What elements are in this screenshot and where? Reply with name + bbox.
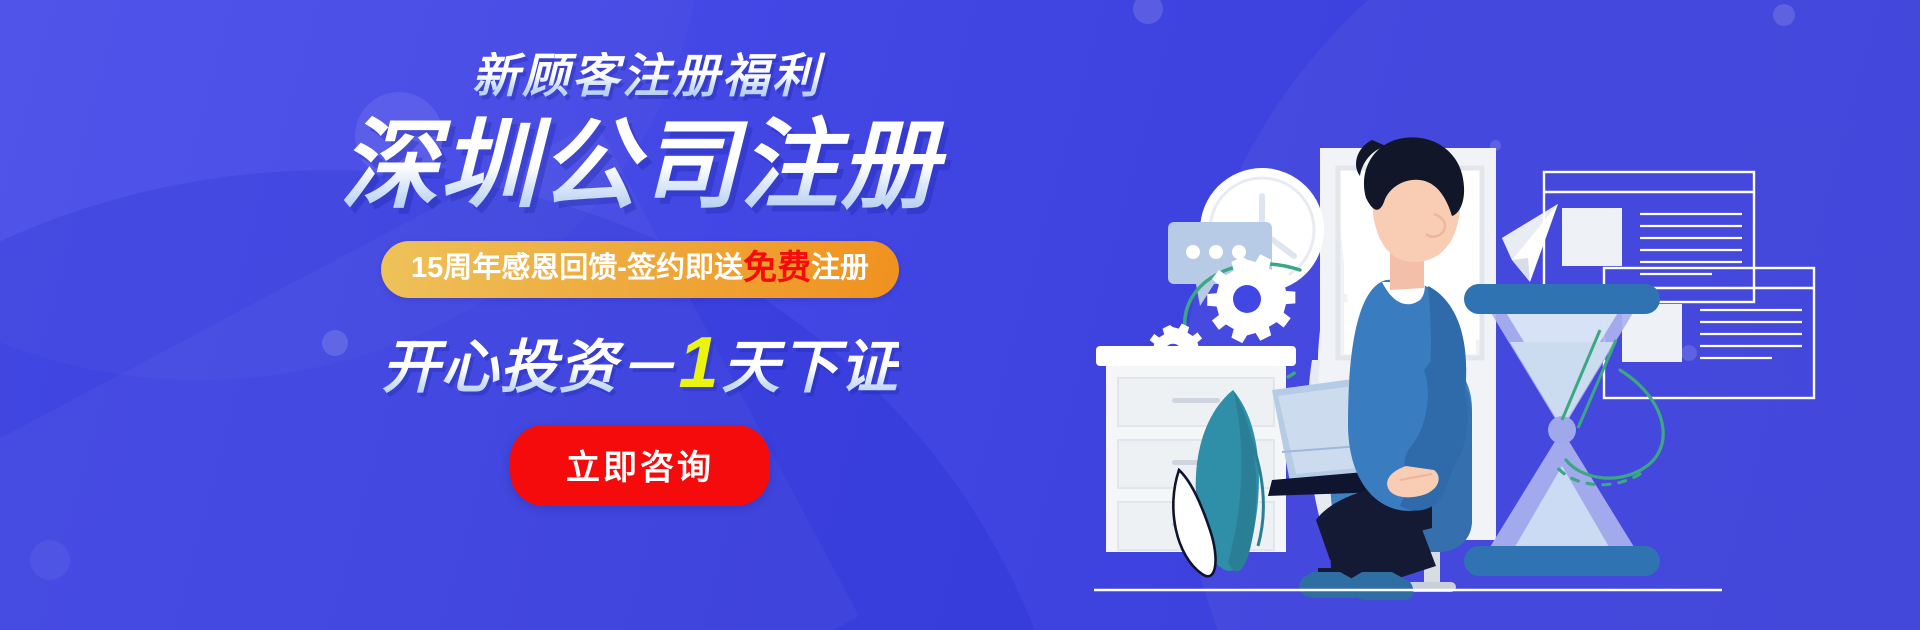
tagline-after: 天下证: [722, 335, 899, 400]
tagline-number: 1: [676, 323, 721, 403]
promo-badge: 15周年感恩回馈-签约即送免费注册: [381, 241, 899, 298]
page-title: 深圳公司注册: [330, 113, 950, 219]
promo-badge-highlight: 免费: [743, 249, 811, 287]
promo-banner: 新顾客注册福利 深圳公司注册 15周年感恩回馈-签约即送免费注册 开心投资－1天…: [0, 0, 1920, 630]
office-illustration: [0, 0, 1920, 630]
consult-now-button[interactable]: 立即咨询: [510, 425, 770, 506]
tagline-before: 开心投资－: [381, 335, 676, 400]
paper-plane-icon: [1502, 204, 1558, 282]
banner-copy: 新顾客注册福利 深圳公司注册 15周年感恩回馈-签约即送免费注册 开心投资－1天…: [330, 52, 950, 506]
eyebrow-text: 新顾客注册福利: [344, 52, 950, 99]
document-card: [1544, 172, 1754, 302]
promo-badge-prefix: 15周年感恩回馈-签约即送: [411, 252, 743, 284]
tagline: 开心投资－1天下证: [330, 324, 950, 403]
promo-badge-suffix: 注册: [811, 252, 869, 284]
